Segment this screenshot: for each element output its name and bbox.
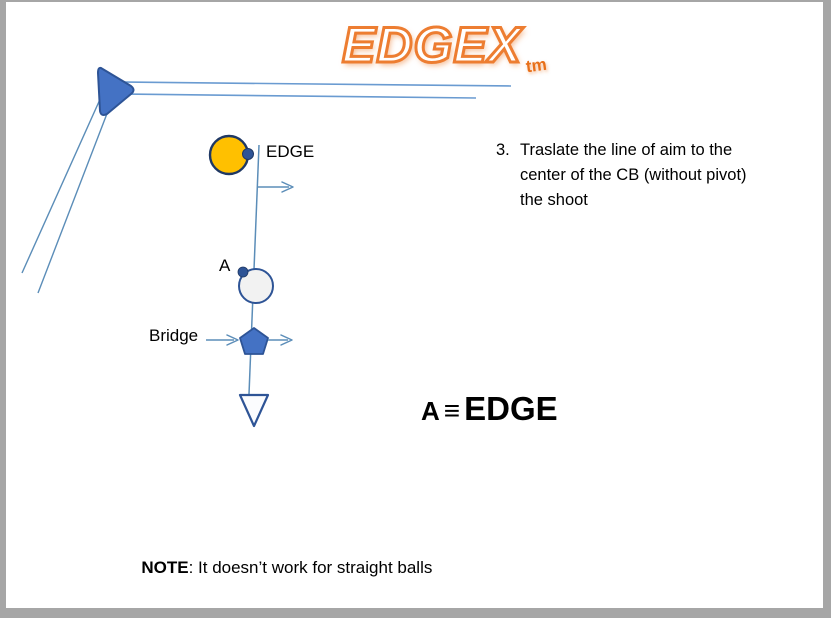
label-edge: EDGE	[266, 142, 314, 162]
label-bridge: Bridge	[149, 326, 198, 346]
note-text: : It doesn’t work for straight balls	[189, 558, 433, 577]
logo-trademark: tm	[525, 55, 548, 77]
equation-identity-symbol: ≡	[440, 395, 464, 426]
equation-left-term: A	[421, 396, 440, 426]
equation-a-equiv-edge: A≡EDGE	[366, 352, 558, 466]
shooter-triangle-icon	[240, 395, 268, 426]
edgex-logo: EDGEX tm	[342, 16, 572, 86]
guide-line-inner	[38, 98, 113, 293]
label-point-a: A	[219, 256, 230, 276]
edge-contact-dot-icon	[243, 149, 254, 160]
cue-rail-lower-line	[118, 94, 476, 98]
note-label: NOTE	[141, 558, 188, 577]
bridge-shape	[240, 328, 268, 354]
logo-wordmark: EDGEX	[342, 16, 522, 74]
note-line: NOTE: It doesn’t work for straight balls	[113, 538, 432, 598]
slide-frame: EDGEX tm 3. Traslate the line of aim to …	[0, 0, 831, 618]
instruction-step-number: 3.	[496, 138, 510, 163]
equation-right-term: EDGE	[464, 390, 558, 427]
point-a-dot-icon	[238, 267, 248, 277]
instruction-step-text: Traslate the line of aim to the center o…	[520, 138, 816, 213]
slide-canvas: EDGEX tm 3. Traslate the line of aim to …	[6, 2, 823, 608]
guide-line-outer	[22, 86, 106, 273]
cue-tip-shape	[98, 68, 134, 115]
instruction-step: 3. Traslate the line of aim to the cente…	[496, 138, 816, 213]
diagram-canvas	[6, 2, 823, 608]
